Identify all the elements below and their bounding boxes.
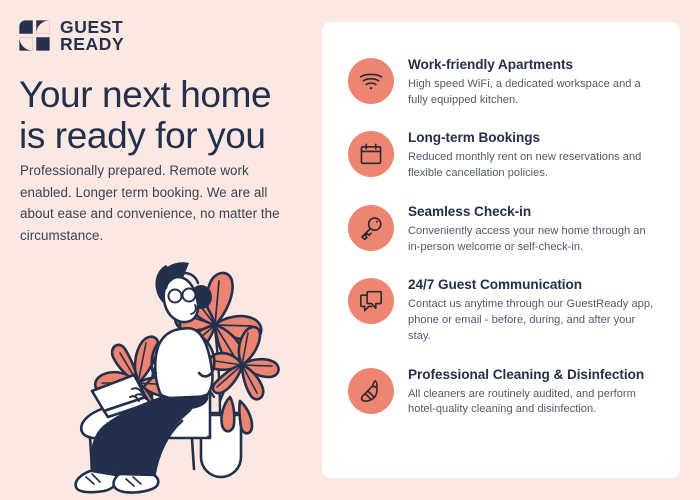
feature-icon-badge [348, 278, 394, 324]
feature-icon-badge [348, 58, 394, 104]
feature-description: All cleaners are routinely audited, and … [408, 387, 656, 419]
feature-description: Conveniently access your new home throug… [408, 224, 656, 256]
brand-logo[interactable]: GUEST READY [18, 19, 124, 52]
hero-column: GUEST READY Your next home is ready for … [0, 0, 322, 500]
feature-title: Work-friendly Apartments [408, 57, 656, 74]
feature-title: 24/7 Guest Communication [408, 277, 656, 294]
chat-bubbles-icon [358, 288, 384, 314]
features-card: Work-friendly Apartments High speed WiFi… [322, 22, 680, 478]
feature-description: Reduced monthly rent on new reservations… [408, 150, 656, 182]
feature-text: Long-term Bookings Reduced monthly rent … [408, 129, 656, 181]
feature-list: Work-friendly Apartments High speed WiFi… [322, 22, 680, 418]
brand-wordmark: GUEST READY [60, 19, 124, 52]
feature-text: Professional Cleaning & Disinfection All… [408, 366, 656, 418]
feature-text: Seamless Check-in Conveniently access yo… [408, 203, 656, 255]
feature-item-guest-communication[interactable]: 24/7 Guest Communication Contact us anyt… [348, 276, 662, 344]
feature-title: Professional Cleaning & Disinfection [408, 367, 656, 384]
feature-icon-badge [348, 131, 394, 177]
guestready-quadrant-logo-icon [18, 19, 51, 52]
feature-text: 24/7 Guest Communication Contact us anyt… [408, 276, 656, 344]
key-icon [358, 215, 384, 241]
feature-icon-badge [348, 368, 394, 414]
feature-text: Work-friendly Apartments High speed WiFi… [408, 56, 656, 108]
marketing-page: GUEST READY Your next home is ready for … [0, 0, 700, 500]
feature-title: Seamless Check-in [408, 204, 656, 221]
feature-item-long-term-bookings[interactable]: Long-term Bookings Reduced monthly rent … [348, 129, 662, 181]
feature-title: Long-term Bookings [408, 130, 656, 147]
woman-with-laptop-illustration [34, 225, 309, 495]
feature-item-work-friendly-apartments[interactable]: Work-friendly Apartments High speed WiFi… [348, 56, 662, 108]
feature-item-seamless-check-in[interactable]: Seamless Check-in Conveniently access yo… [348, 203, 662, 255]
broom-icon [358, 378, 384, 404]
brand-name-line-2: READY [60, 36, 124, 52]
page-headline: Your next home is ready for you [19, 74, 319, 157]
calendar-icon [358, 141, 384, 167]
feature-description: High speed WiFi, a dedicated workspace a… [408, 77, 656, 109]
feature-icon-badge [348, 205, 394, 251]
feature-description: Contact us anytime through our GuestRead… [408, 297, 656, 344]
wifi-icon [358, 68, 384, 94]
feature-item-professional-cleaning[interactable]: Professional Cleaning & Disinfection All… [348, 366, 662, 418]
